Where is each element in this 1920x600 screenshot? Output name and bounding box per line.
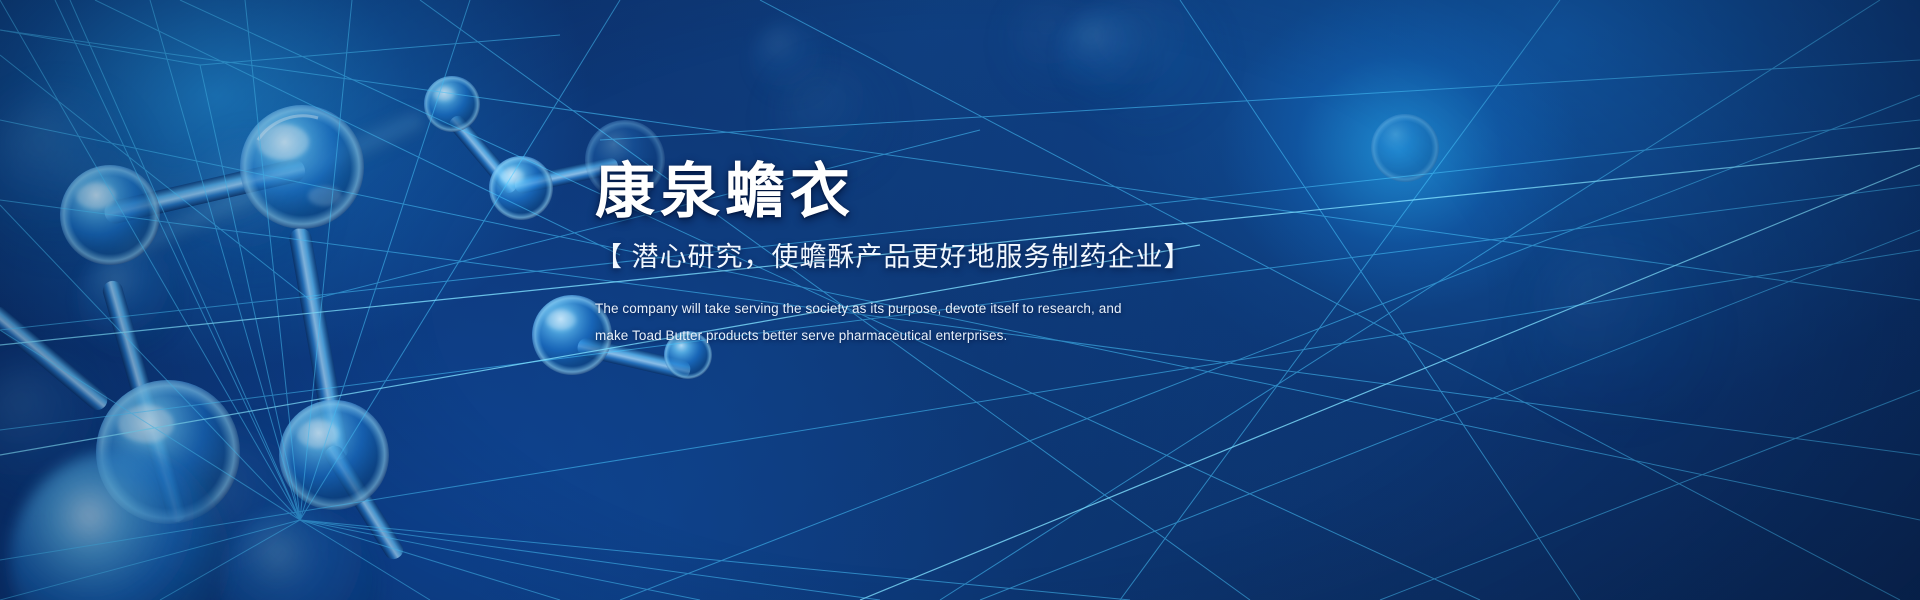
- banner-description-line-2: make Toad Butter products better serve p…: [595, 322, 1355, 349]
- banner-title: 康泉蟾衣: [595, 160, 1355, 225]
- banner-description-line-1: The company will take serving the societ…: [595, 295, 1355, 322]
- hero-banner: 康泉蟾衣 【 潜心研究，使蟾酥产品更好地服务制药企业】 The company …: [0, 0, 1920, 600]
- banner-text-block: 康泉蟾衣 【 潜心研究，使蟾酥产品更好地服务制药企业】 The company …: [595, 160, 1355, 349]
- banner-description: The company will take serving the societ…: [595, 295, 1355, 349]
- banner-subtitle: 【 潜心研究，使蟾酥产品更好地服务制药企业】: [595, 241, 1355, 273]
